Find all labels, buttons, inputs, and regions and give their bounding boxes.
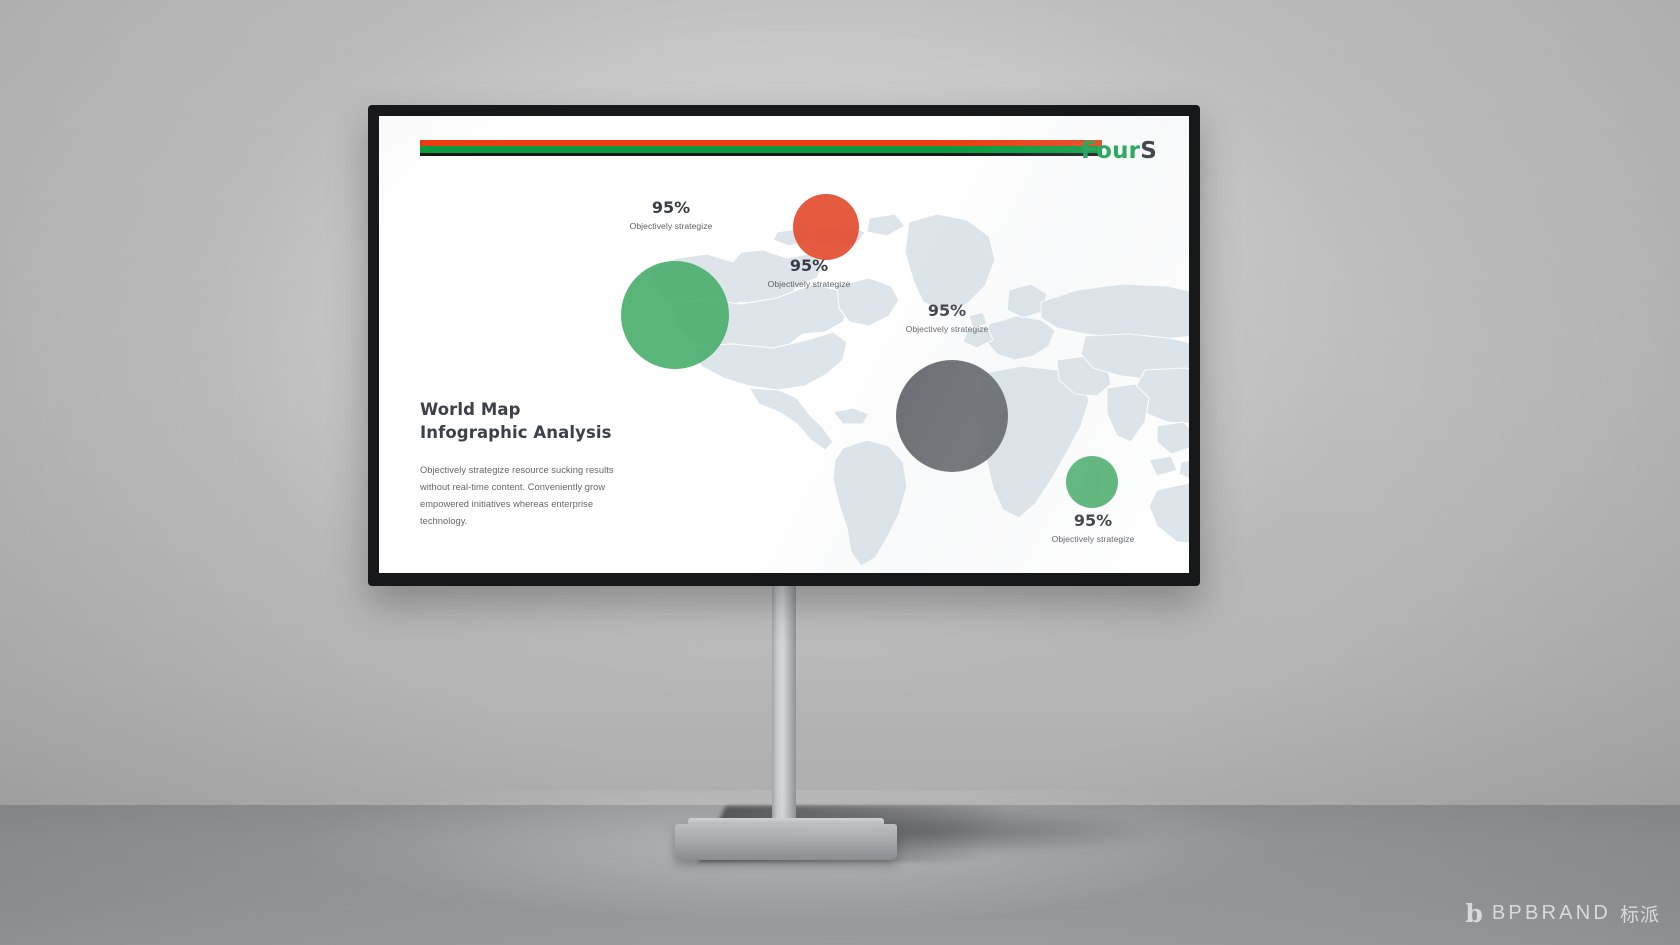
stat-value: 95% (739, 257, 879, 275)
slide-paragraph: Objectively strategize resource sucking … (420, 462, 635, 530)
stat-caption: Objectively strategize (739, 279, 879, 289)
page-title: World Map Infographic Analysis (420, 398, 635, 445)
watermark-text-cn: 标派 (1620, 900, 1660, 927)
monitor-screen[interactable]: FourS 95%Objectively strategize95%Object… (379, 116, 1189, 573)
map-bubble-north-america[interactable] (621, 261, 729, 369)
brand-logo: FourS (1081, 138, 1157, 164)
stat-caption: Objectively strategize (1023, 534, 1163, 544)
map-stat-north-america: 95%Objectively strategize (601, 199, 741, 231)
monitor-stand-base (675, 824, 897, 860)
logo-text-green: Four (1081, 138, 1140, 164)
watermark-logo-icon: b (1465, 901, 1482, 926)
studio-scene: FourS 95%Objectively strategize95%Object… (0, 0, 1680, 945)
presentation-slide: FourS 95%Objectively strategize95%Object… (379, 116, 1189, 573)
map-bubble-greenland[interactable] (793, 194, 859, 260)
monitor-stand-neck (772, 586, 796, 841)
stat-caption: Objectively strategize (877, 324, 1017, 334)
header-accent-bars (420, 140, 1102, 160)
accent-bar-black (420, 153, 1102, 156)
map-stat-greenland: 95%Objectively strategize (739, 257, 879, 289)
slide-text-block: World Map Infographic Analysis Objective… (420, 398, 635, 529)
stat-value: 95% (877, 302, 1017, 320)
watermark-text: BPBRAND (1492, 902, 1611, 925)
watermark: b BPBRAND 标派 (1465, 900, 1660, 927)
accent-bar-green (420, 146, 1102, 153)
monitor-bezel: FourS 95%Objectively strategize95%Object… (368, 105, 1200, 586)
stat-caption: Objectively strategize (601, 221, 741, 231)
stat-value: 95% (1023, 512, 1163, 530)
map-stat-oceania: 95%Objectively strategize (1023, 512, 1163, 544)
map-stat-asia: 95%Objectively strategize (877, 302, 1017, 334)
map-bubble-asia[interactable] (896, 360, 1008, 472)
logo-text-dark: S (1140, 138, 1157, 164)
stat-value: 95% (601, 199, 741, 217)
map-bubble-oceania[interactable] (1066, 456, 1118, 508)
